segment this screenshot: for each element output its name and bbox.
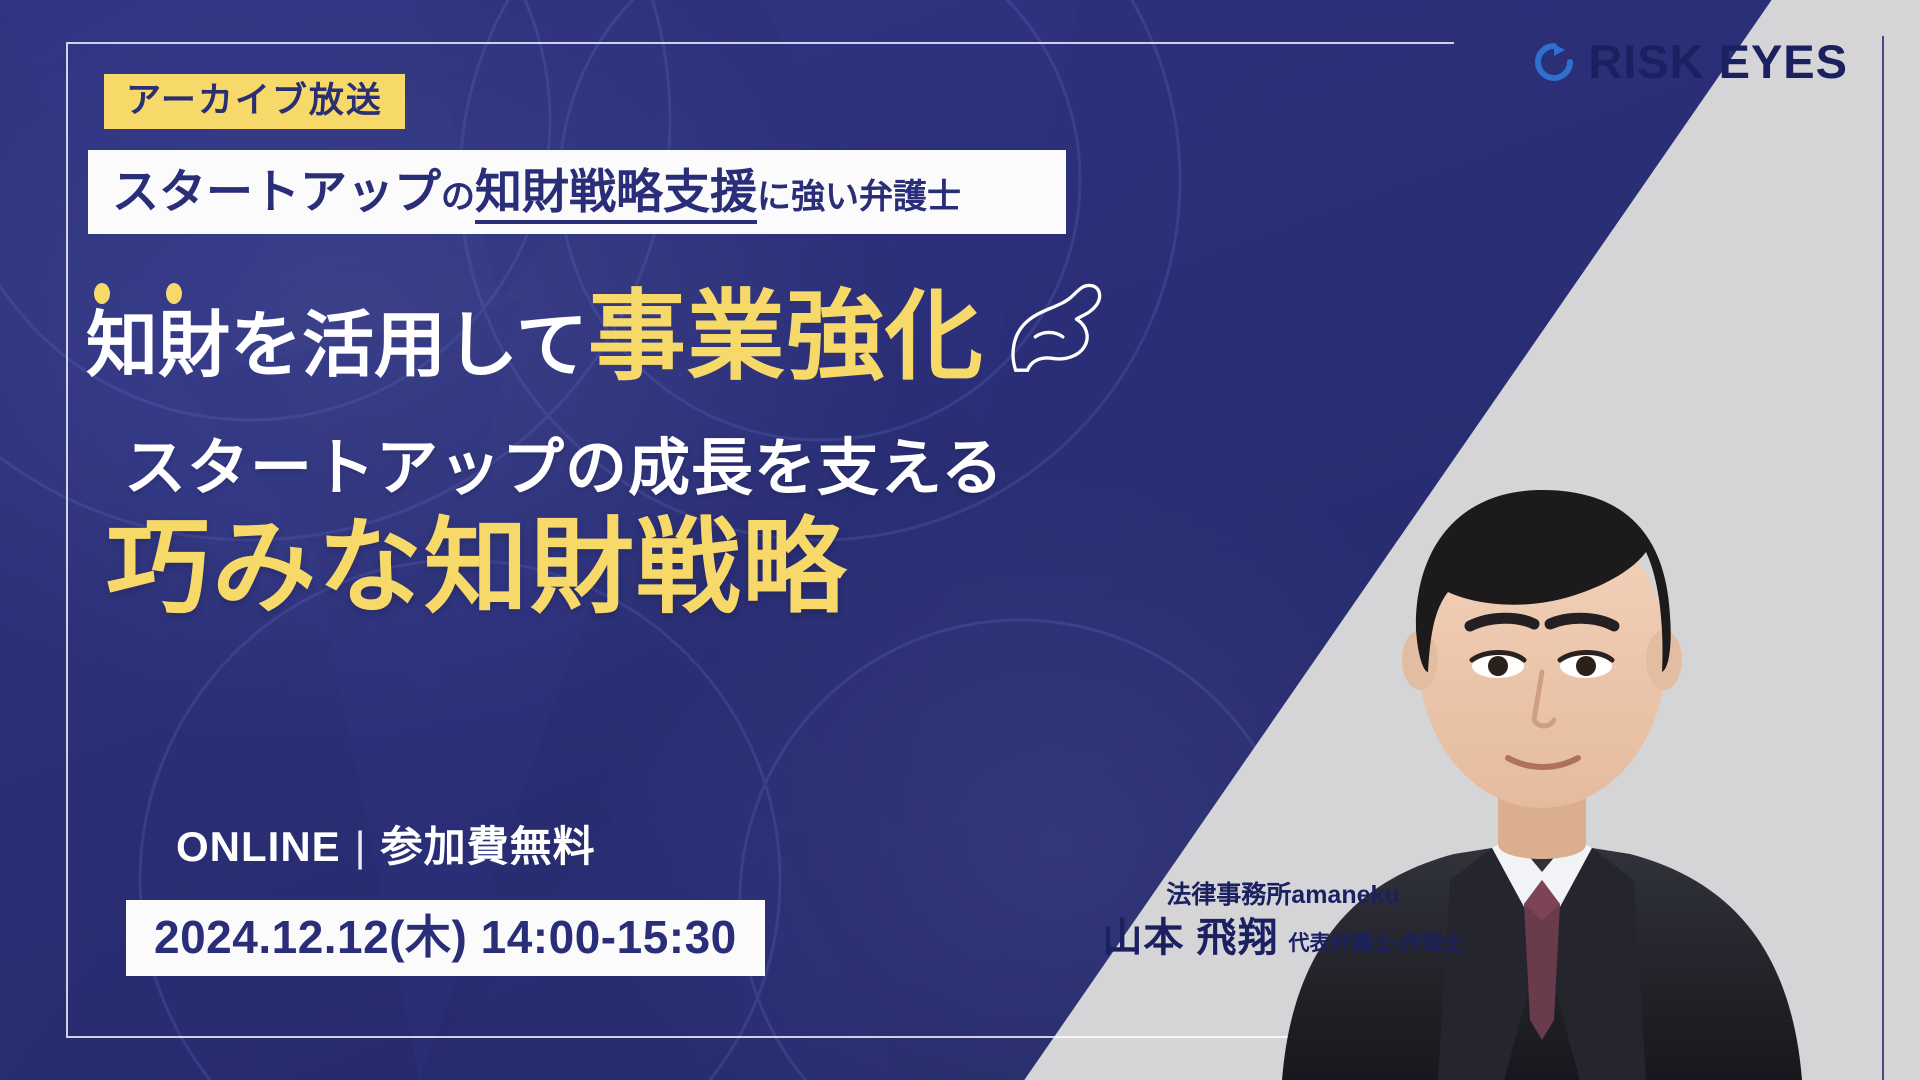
speaker-title: 代表弁護士・弁理士 xyxy=(1289,933,1464,958)
circle-arrow-icon xyxy=(1534,42,1574,82)
event-separator: | xyxy=(355,826,367,868)
riskeyes-logo[interactable]: RISK EYES xyxy=(1534,38,1848,85)
headline-line-4: 巧みな知財戦略 xyxy=(106,516,848,620)
event-format: ONLINE xyxy=(176,826,341,868)
webinar-banner: RISK EYES アーカイブ放送 スタートアップの知財戦略支援に強い弁護士 知… xyxy=(0,0,1920,1080)
speaker-info: 法律事務所amaneku 山本 飛翔 代表弁護士・弁理士 xyxy=(1118,880,1448,958)
emphasis-dots-icon xyxy=(94,283,182,304)
flexed-biceps-icon xyxy=(998,275,1106,379)
subheadline-part2: の xyxy=(441,178,475,216)
headline-line-2: 知財を活用して 事業強化 xyxy=(86,275,1106,385)
speaker-portrait xyxy=(1242,320,1842,1080)
subheadline-part3: 知財戦略支援 xyxy=(475,165,757,224)
speaker-name: 山本 飛翔 xyxy=(1102,918,1278,958)
headline-line-3: スタートアップの成長を支える xyxy=(124,438,1004,500)
speaker-firm: 法律事務所amaneku xyxy=(1118,880,1448,910)
subheadline-part4: に強い弁護士 xyxy=(757,178,961,216)
event-format-line: ONLINE | 参加費無料 xyxy=(176,826,596,868)
headline-line2-yellow: 事業強化 xyxy=(588,287,984,385)
wedge-vertical-rule xyxy=(1882,36,1884,1080)
subheadline-part1: スタートアップ xyxy=(112,165,441,218)
logo-wordmark: RISK EYES xyxy=(1588,38,1848,85)
event-datetime-box: 2024.12.12(木) 14:00-15:30 xyxy=(126,900,765,976)
speaker-name-row: 山本 飛翔 代表弁護士・弁理士 xyxy=(1118,918,1448,958)
event-fee: 参加費無料 xyxy=(381,826,596,868)
archive-badge: アーカイブ放送 xyxy=(104,74,405,129)
subheadline-text: スタートアップの知財戦略支援に強い弁護士 xyxy=(112,168,961,216)
emphasis-dots-wrapper: 知財を活用して xyxy=(86,275,588,385)
subheadline-bar: スタートアップの知財戦略支援に強い弁護士 xyxy=(88,150,1066,234)
